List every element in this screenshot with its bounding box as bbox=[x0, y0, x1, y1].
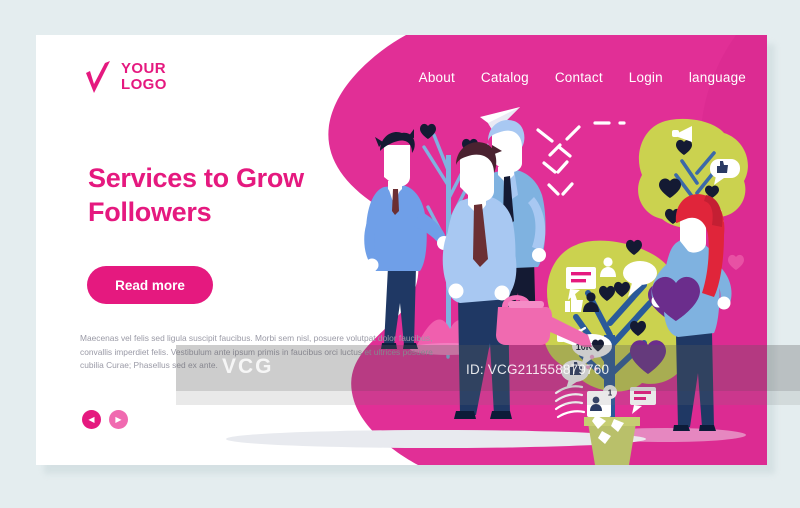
ground-shadow bbox=[226, 430, 646, 448]
nav-link-login[interactable]: Login bbox=[629, 70, 663, 85]
read-more-button[interactable]: Read more bbox=[87, 266, 213, 304]
checkmark-icon bbox=[84, 60, 112, 94]
hero-illustration: 10K 1 bbox=[36, 35, 767, 465]
nav-link-catalog[interactable]: Catalog bbox=[481, 70, 529, 85]
nav-link-about[interactable]: About bbox=[419, 70, 455, 85]
chevron-left-icon[interactable]: ◀ bbox=[82, 410, 101, 429]
logo-text: YOUR LOGO bbox=[121, 61, 167, 93]
logo[interactable]: YOUR LOGO bbox=[84, 60, 167, 94]
like-count-text: 1 bbox=[608, 389, 613, 398]
logo-line-2: LOGO bbox=[121, 77, 167, 93]
landing-page-card: YOUR LOGO About Catalog Contact Login la… bbox=[36, 35, 767, 465]
logo-line-1: YOUR bbox=[121, 61, 167, 77]
hero-body-text: Maecenas vel felis sed ligula suscipit f… bbox=[80, 332, 446, 373]
page-title: Services to Grow Followers bbox=[88, 161, 378, 229]
thumbs-up-bubble-icon bbox=[561, 360, 589, 389]
carousel-controls[interactable]: ◀ ▶ bbox=[82, 410, 128, 429]
nav-link-contact[interactable]: Contact bbox=[555, 70, 603, 85]
main-navigation[interactable]: About Catalog Contact Login language bbox=[416, 65, 746, 89]
chevron-right-icon[interactable]: ▶ bbox=[109, 410, 128, 429]
motion-dashes bbox=[538, 123, 624, 194]
message-lines-icon bbox=[630, 387, 656, 414]
heart-icon bbox=[728, 255, 744, 270]
nav-link-language[interactable]: language bbox=[689, 70, 746, 85]
